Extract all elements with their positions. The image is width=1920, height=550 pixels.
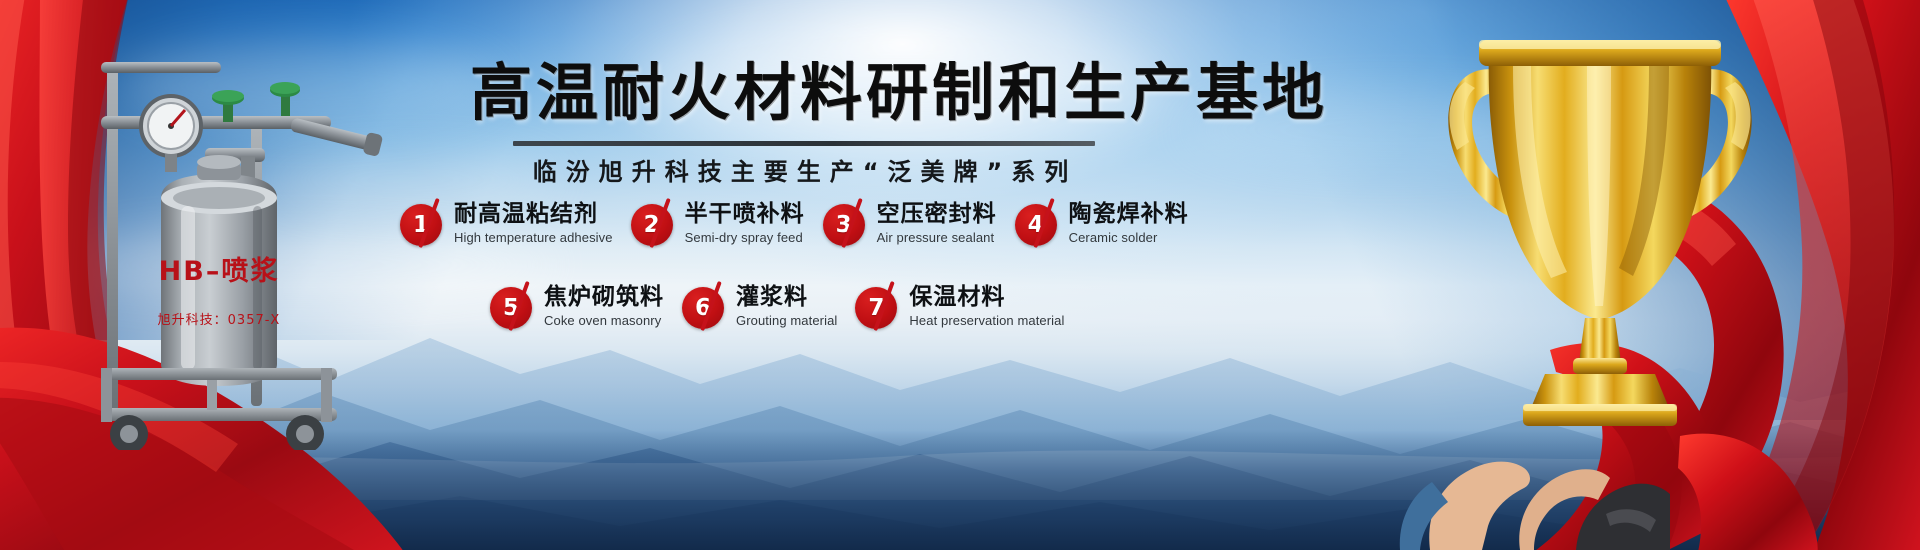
list-item[interactable]: 3 空压密封料 Air pressure sealant bbox=[823, 200, 997, 250]
list-item-labels: 半干喷补料 Semi-dry spray feed bbox=[685, 200, 805, 245]
spray-machine-illustration: HB–喷浆 旭升科技：0357-X bbox=[55, 30, 435, 450]
list-item-title-cn: 耐高温粘结剂 bbox=[454, 202, 613, 226]
list-item[interactable]: 1 耐高温粘结剂 High temperature adhesive bbox=[400, 200, 613, 250]
product-row-1: 1 耐高温粘结剂 High temperature adhesive 2 bbox=[400, 200, 1207, 250]
number-badge: 4 bbox=[1015, 204, 1061, 250]
list-item[interactable]: 6 灌浆料 Grouting material bbox=[682, 283, 837, 333]
list-item-labels: 空压密封料 Air pressure sealant bbox=[877, 200, 997, 245]
list-item-title-en: Semi-dry spray feed bbox=[685, 230, 805, 245]
list-item[interactable]: 4 陶瓷焊补料 Ceramic solder bbox=[1015, 200, 1189, 250]
svg-text:HB–喷浆: HB–喷浆 bbox=[159, 255, 280, 287]
list-item[interactable]: 5 焦炉砌筑料 Coke oven masonry bbox=[490, 283, 664, 333]
list-item-labels: 灌浆料 Grouting material bbox=[736, 283, 837, 328]
product-row-2: 5 焦炉砌筑料 Coke oven masonry 6 bbox=[490, 283, 1082, 333]
number-badge: 2 bbox=[631, 204, 677, 250]
list-item-title-en: Coke oven masonry bbox=[544, 313, 664, 328]
list-item-labels: 焦炉砌筑料 Coke oven masonry bbox=[544, 283, 664, 328]
list-item-title-en: Air pressure sealant bbox=[877, 230, 997, 245]
list-item-title-cn: 半干喷补料 bbox=[685, 202, 805, 226]
svg-text:旭升科技：0357-X: 旭升科技：0357-X bbox=[158, 313, 281, 328]
list-item-labels: 耐高温粘结剂 High temperature adhesive bbox=[454, 200, 613, 245]
list-item[interactable]: 2 半干喷补料 Semi-dry spray feed bbox=[631, 200, 805, 250]
hands-illustration bbox=[1370, 410, 1670, 550]
list-item-title-en: Heat preservation material bbox=[909, 313, 1064, 328]
subtitle: 临汾旭升科技主要生产“泛美牌”系列 bbox=[470, 152, 1140, 187]
number-badge: 3 bbox=[823, 204, 869, 250]
number-badge: 6 bbox=[682, 287, 728, 333]
trophy-illustration bbox=[1435, 10, 1765, 440]
list-item-title-en: Ceramic solder bbox=[1069, 230, 1189, 245]
list-item-title-en: High temperature adhesive bbox=[454, 230, 613, 245]
title-divider bbox=[513, 141, 1095, 146]
list-item-title-en: Grouting material bbox=[736, 313, 837, 328]
promo-banner: HB–喷浆 旭升科技：0357-X bbox=[0, 0, 1920, 550]
number-badge: 5 bbox=[490, 287, 536, 333]
list-item-title-cn: 焦炉砌筑料 bbox=[544, 285, 664, 309]
number-badge: 1 bbox=[400, 204, 446, 250]
list-item[interactable]: 7 保温材料 Heat preservation material bbox=[855, 283, 1064, 333]
list-item-title-cn: 陶瓷焊补料 bbox=[1069, 202, 1189, 226]
list-item-labels: 陶瓷焊补料 Ceramic solder bbox=[1069, 200, 1189, 245]
list-item-title-cn: 空压密封料 bbox=[877, 202, 997, 226]
number-badge: 7 bbox=[855, 287, 901, 333]
page-title: 高温耐火材料研制和生产基地 bbox=[470, 62, 1140, 124]
list-item-title-cn: 保温材料 bbox=[909, 285, 1064, 309]
list-item-title-cn: 灌浆料 bbox=[736, 285, 837, 309]
list-item-labels: 保温材料 Heat preservation material bbox=[909, 283, 1064, 328]
